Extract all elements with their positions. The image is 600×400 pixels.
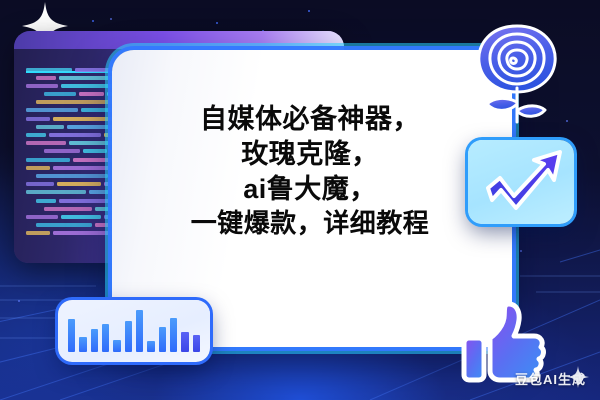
code-token [44,92,76,96]
rose-icon [463,14,571,126]
code-token [61,215,101,219]
code-token [57,182,101,186]
trending-up-icon [468,140,574,224]
code-token [36,174,108,178]
chart-bar [79,337,86,352]
code-token [26,117,50,121]
chart-bar [193,335,200,352]
code-token [26,231,50,235]
code-token [26,182,54,186]
code-token [26,141,66,145]
code-token [53,166,109,170]
poster-title: 自媒体必备神器，玫瑰克隆，ai鲁大魔，一键爆款，详细教程 [112,102,508,241]
code-token [36,223,92,227]
code-token [79,92,105,96]
code-token [26,215,58,219]
title-line-3: ai鲁大魔， [112,172,508,207]
chart-bar [91,329,98,352]
code-token [26,133,46,137]
chart-bar [181,332,188,352]
chart-bar [125,321,132,352]
watermark: 豆包AI生成 [515,369,586,388]
chart-bar [170,318,177,352]
code-token [75,68,110,72]
chart-bar [68,319,75,352]
code-token [83,149,107,153]
code-token [36,199,56,203]
chart-bar [113,340,120,352]
chart-bar [102,324,109,352]
chart-bar [159,327,166,352]
title-line-2: 玫瑰克隆， [112,137,508,172]
code-token [26,68,72,72]
chart-bar [147,341,154,352]
code-token [44,207,92,211]
code-token [36,125,64,129]
code-token [26,108,78,112]
code-token [26,166,50,170]
title-line-4: 一键爆款，详细教程 [112,207,508,241]
code-token [53,231,113,235]
code-token [26,190,86,194]
code-token [36,100,116,104]
code-token [26,84,58,88]
code-panel-titlebar [14,31,344,51]
code-token [49,133,101,137]
code-token [26,158,70,162]
trending-up-card [468,140,574,224]
poster-canvas: 自媒体必备神器，玫瑰克隆，ai鲁大魔，一键爆款，详细教程 [0,0,600,400]
code-token [44,149,80,153]
code-token [36,76,56,80]
watermark-sparkle-icon [567,366,589,391]
analytics-bar-chart-card [58,300,210,362]
chart-bar [136,310,143,352]
title-line-1: 自媒体必备神器， [112,102,508,137]
